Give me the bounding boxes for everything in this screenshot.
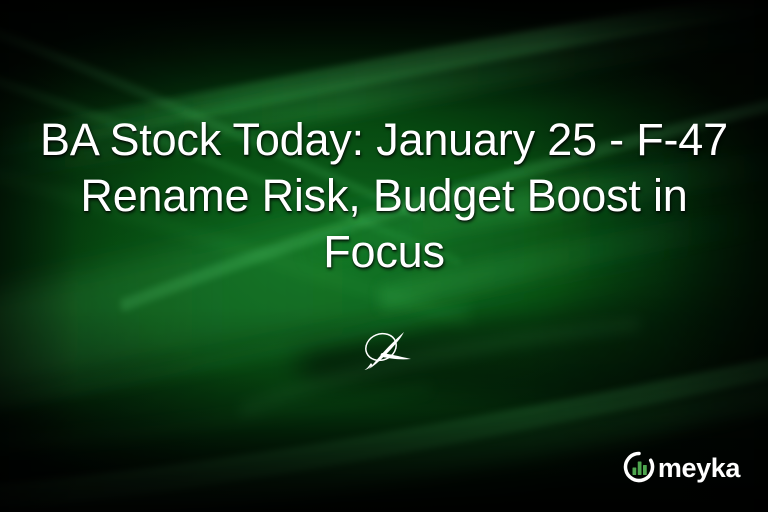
- page-title: BA Stock Today: January 25 - F-47 Rename…: [0, 112, 768, 280]
- meyka-wordmark: meyka: [658, 455, 740, 482]
- boeing-bird-logo-icon: [356, 327, 418, 371]
- meyka-logo[interactable]: meyka: [623, 450, 740, 484]
- meyka-bar-chart-ring-icon: [623, 451, 655, 483]
- share-card: BA Stock Today: January 25 - F-47 Rename…: [0, 0, 768, 512]
